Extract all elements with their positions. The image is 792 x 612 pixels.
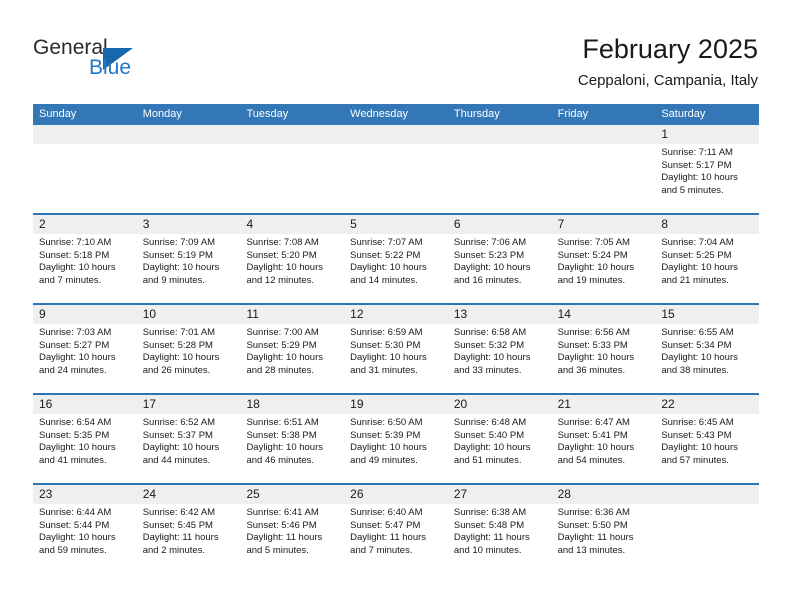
day-cell[interactable]: 10 Sunrise: 7:01 AM Sunset: 5:28 PM Dayl… bbox=[137, 305, 241, 393]
sunrise-text: Sunrise: 7:09 AM bbox=[143, 237, 235, 250]
day-number: 14 bbox=[558, 307, 571, 321]
day-number: 6 bbox=[454, 217, 461, 231]
day-number: 27 bbox=[454, 487, 467, 501]
sunrise-text: Sunrise: 6:45 AM bbox=[661, 417, 753, 430]
daylight-text-line2: and 16 minutes. bbox=[454, 275, 546, 288]
day-info: Sunrise: 6:41 AM Sunset: 5:46 PM Dayligh… bbox=[240, 504, 344, 557]
day-cell[interactable]: 19 Sunrise: 6:50 AM Sunset: 5:39 PM Dayl… bbox=[344, 395, 448, 483]
day-number-band: 28 bbox=[552, 485, 656, 504]
daylight-text-line2: and 14 minutes. bbox=[350, 275, 442, 288]
sunset-text: Sunset: 5:22 PM bbox=[350, 250, 442, 263]
day-number-band bbox=[137, 125, 241, 144]
day-cell[interactable]: 12 Sunrise: 6:59 AM Sunset: 5:30 PM Dayl… bbox=[344, 305, 448, 393]
daylight-text-line1: Daylight: 10 hours bbox=[143, 262, 235, 275]
day-info: Sunrise: 6:42 AM Sunset: 5:45 PM Dayligh… bbox=[137, 504, 241, 557]
sunrise-text: Sunrise: 7:00 AM bbox=[246, 327, 338, 340]
week-row: 16 Sunrise: 6:54 AM Sunset: 5:35 PM Dayl… bbox=[33, 395, 759, 485]
sunrise-text: Sunrise: 6:51 AM bbox=[246, 417, 338, 430]
sunrise-text: Sunrise: 7:11 AM bbox=[661, 147, 753, 160]
daylight-text-line1: Daylight: 11 hours bbox=[246, 532, 338, 545]
daylight-text-line2: and 44 minutes. bbox=[143, 455, 235, 468]
weekday-header-tuesday: Tuesday bbox=[240, 104, 344, 125]
sunrise-text: Sunrise: 6:42 AM bbox=[143, 507, 235, 520]
day-number-band: 17 bbox=[137, 395, 241, 414]
sunset-text: Sunset: 5:45 PM bbox=[143, 520, 235, 533]
day-cell[interactable]: 22 Sunrise: 6:45 AM Sunset: 5:43 PM Dayl… bbox=[655, 395, 759, 483]
sunset-text: Sunset: 5:19 PM bbox=[143, 250, 235, 263]
day-info: Sunrise: 7:03 AM Sunset: 5:27 PM Dayligh… bbox=[33, 324, 137, 377]
day-cell[interactable] bbox=[552, 125, 656, 213]
daylight-text-line1: Daylight: 10 hours bbox=[558, 352, 650, 365]
daylight-text-line1: Daylight: 10 hours bbox=[39, 352, 131, 365]
day-info: Sunrise: 6:48 AM Sunset: 5:40 PM Dayligh… bbox=[448, 414, 552, 467]
day-number: 11 bbox=[246, 307, 258, 321]
day-number: 3 bbox=[143, 217, 150, 231]
daylight-text-line2: and 19 minutes. bbox=[558, 275, 650, 288]
day-number-band bbox=[240, 125, 344, 144]
day-number-band: 24 bbox=[137, 485, 241, 504]
day-cell[interactable]: 9 Sunrise: 7:03 AM Sunset: 5:27 PM Dayli… bbox=[33, 305, 137, 393]
day-info bbox=[655, 504, 759, 507]
sunrise-text: Sunrise: 6:54 AM bbox=[39, 417, 131, 430]
day-number: 15 bbox=[661, 307, 674, 321]
day-info: Sunrise: 6:36 AM Sunset: 5:50 PM Dayligh… bbox=[552, 504, 656, 557]
day-info: Sunrise: 7:06 AM Sunset: 5:23 PM Dayligh… bbox=[448, 234, 552, 287]
daylight-text-line2: and 38 minutes. bbox=[661, 365, 753, 378]
day-number-band: 25 bbox=[240, 485, 344, 504]
day-info: Sunrise: 6:55 AM Sunset: 5:34 PM Dayligh… bbox=[655, 324, 759, 377]
daylight-text-line2: and 59 minutes. bbox=[39, 545, 131, 558]
day-number-band: 2 bbox=[33, 215, 137, 234]
day-cell[interactable] bbox=[344, 125, 448, 213]
daylight-text-line1: Daylight: 10 hours bbox=[246, 442, 338, 455]
day-cell[interactable]: 7 Sunrise: 7:05 AM Sunset: 5:24 PM Dayli… bbox=[552, 215, 656, 303]
daylight-text-line1: Daylight: 10 hours bbox=[143, 352, 235, 365]
day-info: Sunrise: 6:56 AM Sunset: 5:33 PM Dayligh… bbox=[552, 324, 656, 377]
daylight-text-line1: Daylight: 10 hours bbox=[661, 442, 753, 455]
logo-text-blue: Blue bbox=[89, 56, 131, 80]
day-number-band: 12 bbox=[344, 305, 448, 324]
sunrise-text: Sunrise: 7:04 AM bbox=[661, 237, 753, 250]
daylight-text-line1: Daylight: 10 hours bbox=[39, 442, 131, 455]
sunrise-text: Sunrise: 6:56 AM bbox=[558, 327, 650, 340]
daylight-text-line1: Daylight: 10 hours bbox=[558, 442, 650, 455]
sunrise-text: Sunrise: 6:55 AM bbox=[661, 327, 753, 340]
day-number: 9 bbox=[39, 307, 46, 321]
calendar-page: General Blue February 2025 Ceppaloni, Ca… bbox=[0, 0, 792, 612]
day-info: Sunrise: 7:09 AM Sunset: 5:19 PM Dayligh… bbox=[137, 234, 241, 287]
weekday-header-sunday: Sunday bbox=[33, 104, 137, 125]
day-number: 13 bbox=[454, 307, 467, 321]
day-info: Sunrise: 6:40 AM Sunset: 5:47 PM Dayligh… bbox=[344, 504, 448, 557]
day-info: Sunrise: 7:07 AM Sunset: 5:22 PM Dayligh… bbox=[344, 234, 448, 287]
day-number: 5 bbox=[350, 217, 357, 231]
day-number-band bbox=[33, 125, 137, 144]
day-cell[interactable] bbox=[240, 125, 344, 213]
calendar-grid: Sunday Monday Tuesday Wednesday Thursday… bbox=[33, 104, 759, 575]
day-info bbox=[552, 144, 656, 147]
sunset-text: Sunset: 5:25 PM bbox=[661, 250, 753, 263]
sunrise-text: Sunrise: 6:50 AM bbox=[350, 417, 442, 430]
sunset-text: Sunset: 5:37 PM bbox=[143, 430, 235, 443]
day-number: 10 bbox=[143, 307, 156, 321]
daylight-text-line2: and 31 minutes. bbox=[350, 365, 442, 378]
day-number-band: 19 bbox=[344, 395, 448, 414]
day-number: 4 bbox=[246, 217, 253, 231]
sunrise-text: Sunrise: 6:52 AM bbox=[143, 417, 235, 430]
sunset-text: Sunset: 5:18 PM bbox=[39, 250, 131, 263]
title-block: February 2025 Ceppaloni, Campania, Italy bbox=[578, 32, 758, 92]
daylight-text-line2: and 51 minutes. bbox=[454, 455, 546, 468]
day-number: 7 bbox=[558, 217, 565, 231]
daylight-text-line2: and 41 minutes. bbox=[39, 455, 131, 468]
daylight-text-line2: and 21 minutes. bbox=[661, 275, 753, 288]
daylight-text-line2: and 24 minutes. bbox=[39, 365, 131, 378]
day-number-band: 6 bbox=[448, 215, 552, 234]
sunset-text: Sunset: 5:17 PM bbox=[661, 160, 753, 173]
sunrise-text: Sunrise: 6:36 AM bbox=[558, 507, 650, 520]
daylight-text-line2: and 12 minutes. bbox=[246, 275, 338, 288]
sunrise-text: Sunrise: 6:40 AM bbox=[350, 507, 442, 520]
daylight-text-line2: and 9 minutes. bbox=[143, 275, 235, 288]
day-info: Sunrise: 6:54 AM Sunset: 5:35 PM Dayligh… bbox=[33, 414, 137, 467]
day-number-band bbox=[655, 485, 759, 504]
weekday-header-monday: Monday bbox=[137, 104, 241, 125]
daylight-text-line2: and 28 minutes. bbox=[246, 365, 338, 378]
sunrise-text: Sunrise: 6:41 AM bbox=[246, 507, 338, 520]
day-number: 24 bbox=[143, 487, 156, 501]
sunrise-text: Sunrise: 7:05 AM bbox=[558, 237, 650, 250]
day-number: 26 bbox=[350, 487, 363, 501]
day-number-band: 14 bbox=[552, 305, 656, 324]
day-number-band: 26 bbox=[344, 485, 448, 504]
page-subtitle: Ceppaloni, Campania, Italy bbox=[578, 70, 758, 92]
day-cell[interactable]: 26 Sunrise: 6:40 AM Sunset: 5:47 PM Dayl… bbox=[344, 485, 448, 575]
day-number-band: 3 bbox=[137, 215, 241, 234]
day-number-band bbox=[448, 125, 552, 144]
day-number-band: 15 bbox=[655, 305, 759, 324]
daylight-text-line1: Daylight: 10 hours bbox=[350, 262, 442, 275]
sunset-text: Sunset: 5:46 PM bbox=[246, 520, 338, 533]
sunset-text: Sunset: 5:33 PM bbox=[558, 340, 650, 353]
sunset-text: Sunset: 5:38 PM bbox=[246, 430, 338, 443]
page-title: February 2025 bbox=[578, 32, 758, 66]
day-info: Sunrise: 7:05 AM Sunset: 5:24 PM Dayligh… bbox=[552, 234, 656, 287]
week-row: 2 Sunrise: 7:10 AM Sunset: 5:18 PM Dayli… bbox=[33, 215, 759, 305]
week-row: 1 Sunrise: 7:11 AM Sunset: 5:17 PM Dayli… bbox=[33, 125, 759, 215]
day-cell[interactable]: 17 Sunrise: 6:52 AM Sunset: 5:37 PM Dayl… bbox=[137, 395, 241, 483]
sunset-text: Sunset: 5:35 PM bbox=[39, 430, 131, 443]
day-number: 8 bbox=[661, 217, 668, 231]
sunset-text: Sunset: 5:29 PM bbox=[246, 340, 338, 353]
day-number-band bbox=[552, 125, 656, 144]
day-number-band: 20 bbox=[448, 395, 552, 414]
sunset-text: Sunset: 5:44 PM bbox=[39, 520, 131, 533]
sunrise-text: Sunrise: 6:58 AM bbox=[454, 327, 546, 340]
day-info: Sunrise: 7:00 AM Sunset: 5:29 PM Dayligh… bbox=[240, 324, 344, 377]
day-info bbox=[448, 144, 552, 147]
day-info bbox=[33, 144, 137, 147]
day-cell[interactable]: 11 Sunrise: 7:00 AM Sunset: 5:29 PM Dayl… bbox=[240, 305, 344, 393]
day-number: 22 bbox=[661, 397, 674, 411]
daylight-text-line1: Daylight: 10 hours bbox=[143, 442, 235, 455]
page-header: General Blue February 2025 Ceppaloni, Ca… bbox=[0, 0, 792, 100]
sunset-text: Sunset: 5:34 PM bbox=[661, 340, 753, 353]
daylight-text-line1: Daylight: 10 hours bbox=[558, 262, 650, 275]
day-number-band: 18 bbox=[240, 395, 344, 414]
day-number: 25 bbox=[246, 487, 259, 501]
day-cell[interactable]: 2 Sunrise: 7:10 AM Sunset: 5:18 PM Dayli… bbox=[33, 215, 137, 303]
day-info: Sunrise: 6:47 AM Sunset: 5:41 PM Dayligh… bbox=[552, 414, 656, 467]
daylight-text-line1: Daylight: 11 hours bbox=[454, 532, 546, 545]
sunset-text: Sunset: 5:24 PM bbox=[558, 250, 650, 263]
sunset-text: Sunset: 5:40 PM bbox=[454, 430, 546, 443]
day-number-band: 22 bbox=[655, 395, 759, 414]
day-number-band: 7 bbox=[552, 215, 656, 234]
day-number: 17 bbox=[143, 397, 156, 411]
week-row: 23 Sunrise: 6:44 AM Sunset: 5:44 PM Dayl… bbox=[33, 485, 759, 575]
sunset-text: Sunset: 5:20 PM bbox=[246, 250, 338, 263]
day-cell[interactable] bbox=[137, 125, 241, 213]
daylight-text-line1: Daylight: 10 hours bbox=[661, 172, 753, 185]
day-number: 19 bbox=[350, 397, 363, 411]
daylight-text-line1: Daylight: 10 hours bbox=[454, 262, 546, 275]
day-cell[interactable]: 21 Sunrise: 6:47 AM Sunset: 5:41 PM Dayl… bbox=[552, 395, 656, 483]
day-number-band bbox=[344, 125, 448, 144]
daylight-text-line2: and 36 minutes. bbox=[558, 365, 650, 378]
day-cell[interactable]: 6 Sunrise: 7:06 AM Sunset: 5:23 PM Dayli… bbox=[448, 215, 552, 303]
sunrise-text: Sunrise: 7:10 AM bbox=[39, 237, 131, 250]
weekday-header-friday: Friday bbox=[552, 104, 656, 125]
day-info: Sunrise: 7:11 AM Sunset: 5:17 PM Dayligh… bbox=[655, 144, 759, 197]
day-number-band: 1 bbox=[655, 125, 759, 144]
day-cell[interactable]: 25 Sunrise: 6:41 AM Sunset: 5:46 PM Dayl… bbox=[240, 485, 344, 575]
day-cell[interactable]: 13 Sunrise: 6:58 AM Sunset: 5:32 PM Dayl… bbox=[448, 305, 552, 393]
daylight-text-line1: Daylight: 10 hours bbox=[39, 262, 131, 275]
day-number: 18 bbox=[246, 397, 259, 411]
day-info: Sunrise: 6:38 AM Sunset: 5:48 PM Dayligh… bbox=[448, 504, 552, 557]
daylight-text-line1: Daylight: 10 hours bbox=[661, 262, 753, 275]
day-info: Sunrise: 6:45 AM Sunset: 5:43 PM Dayligh… bbox=[655, 414, 759, 467]
day-cell[interactable]: 27 Sunrise: 6:38 AM Sunset: 5:48 PM Dayl… bbox=[448, 485, 552, 575]
sunset-text: Sunset: 5:32 PM bbox=[454, 340, 546, 353]
day-number: 1 bbox=[661, 127, 668, 141]
sunrise-text: Sunrise: 7:01 AM bbox=[143, 327, 235, 340]
day-info: Sunrise: 7:10 AM Sunset: 5:18 PM Dayligh… bbox=[33, 234, 137, 287]
day-info: Sunrise: 7:04 AM Sunset: 5:25 PM Dayligh… bbox=[655, 234, 759, 287]
daylight-text-line1: Daylight: 11 hours bbox=[350, 532, 442, 545]
day-number-band: 4 bbox=[240, 215, 344, 234]
weekday-header-wednesday: Wednesday bbox=[344, 104, 448, 125]
day-cell[interactable]: 18 Sunrise: 6:51 AM Sunset: 5:38 PM Dayl… bbox=[240, 395, 344, 483]
weekday-header-thursday: Thursday bbox=[448, 104, 552, 125]
sunrise-text: Sunrise: 6:48 AM bbox=[454, 417, 546, 430]
day-cell[interactable]: 23 Sunrise: 6:44 AM Sunset: 5:44 PM Dayl… bbox=[33, 485, 137, 575]
sunrise-text: Sunrise: 6:47 AM bbox=[558, 417, 650, 430]
day-number: 16 bbox=[39, 397, 52, 411]
day-cell[interactable] bbox=[33, 125, 137, 213]
daylight-text-line1: Daylight: 10 hours bbox=[39, 532, 131, 545]
daylight-text-line1: Daylight: 10 hours bbox=[454, 352, 546, 365]
daylight-text-line2: and 5 minutes. bbox=[246, 545, 338, 558]
day-number-band: 23 bbox=[33, 485, 137, 504]
daylight-text-line2: and 2 minutes. bbox=[143, 545, 235, 558]
day-number-band: 27 bbox=[448, 485, 552, 504]
day-cell[interactable]: 28 Sunrise: 6:36 AM Sunset: 5:50 PM Dayl… bbox=[552, 485, 656, 575]
daylight-text-line2: and 57 minutes. bbox=[661, 455, 753, 468]
day-cell[interactable]: 14 Sunrise: 6:56 AM Sunset: 5:33 PM Dayl… bbox=[552, 305, 656, 393]
day-number-band: 11 bbox=[240, 305, 344, 324]
daylight-text-line1: Daylight: 11 hours bbox=[558, 532, 650, 545]
daylight-text-line2: and 5 minutes. bbox=[661, 185, 753, 198]
day-cell[interactable] bbox=[448, 125, 552, 213]
day-cell[interactable]: 4 Sunrise: 7:08 AM Sunset: 5:20 PM Dayli… bbox=[240, 215, 344, 303]
day-info: Sunrise: 6:51 AM Sunset: 5:38 PM Dayligh… bbox=[240, 414, 344, 467]
sunset-text: Sunset: 5:50 PM bbox=[558, 520, 650, 533]
day-info: Sunrise: 6:50 AM Sunset: 5:39 PM Dayligh… bbox=[344, 414, 448, 467]
sunset-text: Sunset: 5:48 PM bbox=[454, 520, 546, 533]
daylight-text-line1: Daylight: 10 hours bbox=[246, 352, 338, 365]
day-cell[interactable]: 24 Sunrise: 6:42 AM Sunset: 5:45 PM Dayl… bbox=[137, 485, 241, 575]
weekday-header-row: Sunday Monday Tuesday Wednesday Thursday… bbox=[33, 104, 759, 125]
daylight-text-line2: and 7 minutes. bbox=[350, 545, 442, 558]
day-number-band: 9 bbox=[33, 305, 137, 324]
day-number-band: 10 bbox=[137, 305, 241, 324]
daylight-text-line1: Daylight: 10 hours bbox=[246, 262, 338, 275]
sunset-text: Sunset: 5:39 PM bbox=[350, 430, 442, 443]
day-number-band: 21 bbox=[552, 395, 656, 414]
sunrise-text: Sunrise: 7:06 AM bbox=[454, 237, 546, 250]
sunrise-text: Sunrise: 7:03 AM bbox=[39, 327, 131, 340]
daylight-text-line1: Daylight: 10 hours bbox=[454, 442, 546, 455]
day-cell[interactable]: 16 Sunrise: 6:54 AM Sunset: 5:35 PM Dayl… bbox=[33, 395, 137, 483]
day-number-band: 5 bbox=[344, 215, 448, 234]
week-row: 9 Sunrise: 7:03 AM Sunset: 5:27 PM Dayli… bbox=[33, 305, 759, 395]
day-info: Sunrise: 7:01 AM Sunset: 5:28 PM Dayligh… bbox=[137, 324, 241, 377]
day-info: Sunrise: 6:44 AM Sunset: 5:44 PM Dayligh… bbox=[33, 504, 137, 557]
daylight-text-line1: Daylight: 11 hours bbox=[143, 532, 235, 545]
day-info bbox=[344, 144, 448, 147]
daylight-text-line2: and 7 minutes. bbox=[39, 275, 131, 288]
weekday-header-saturday: Saturday bbox=[655, 104, 759, 125]
day-number-band: 16 bbox=[33, 395, 137, 414]
sunset-text: Sunset: 5:41 PM bbox=[558, 430, 650, 443]
day-info: Sunrise: 6:58 AM Sunset: 5:32 PM Dayligh… bbox=[448, 324, 552, 377]
day-cell[interactable]: 8 Sunrise: 7:04 AM Sunset: 5:25 PM Dayli… bbox=[655, 215, 759, 303]
day-cell[interactable]: 5 Sunrise: 7:07 AM Sunset: 5:22 PM Dayli… bbox=[344, 215, 448, 303]
daylight-text-line1: Daylight: 10 hours bbox=[350, 442, 442, 455]
sunset-text: Sunset: 5:27 PM bbox=[39, 340, 131, 353]
sunset-text: Sunset: 5:30 PM bbox=[350, 340, 442, 353]
sunset-text: Sunset: 5:47 PM bbox=[350, 520, 442, 533]
day-number: 20 bbox=[454, 397, 467, 411]
sunrise-text: Sunrise: 7:07 AM bbox=[350, 237, 442, 250]
day-number: 2 bbox=[39, 217, 46, 231]
day-info: Sunrise: 7:08 AM Sunset: 5:20 PM Dayligh… bbox=[240, 234, 344, 287]
sunset-text: Sunset: 5:28 PM bbox=[143, 340, 235, 353]
day-info: Sunrise: 6:59 AM Sunset: 5:30 PM Dayligh… bbox=[344, 324, 448, 377]
sunset-text: Sunset: 5:43 PM bbox=[661, 430, 753, 443]
general-blue-logo[interactable]: General Blue bbox=[33, 36, 233, 92]
day-info: Sunrise: 6:52 AM Sunset: 5:37 PM Dayligh… bbox=[137, 414, 241, 467]
daylight-text-line2: and 46 minutes. bbox=[246, 455, 338, 468]
sunrise-text: Sunrise: 6:38 AM bbox=[454, 507, 546, 520]
day-cell[interactable]: 20 Sunrise: 6:48 AM Sunset: 5:40 PM Dayl… bbox=[448, 395, 552, 483]
sunrise-text: Sunrise: 7:08 AM bbox=[246, 237, 338, 250]
daylight-text-line2: and 26 minutes. bbox=[143, 365, 235, 378]
day-cell[interactable]: 15 Sunrise: 6:55 AM Sunset: 5:34 PM Dayl… bbox=[655, 305, 759, 393]
day-number-band: 8 bbox=[655, 215, 759, 234]
day-cell[interactable]: 3 Sunrise: 7:09 AM Sunset: 5:19 PM Dayli… bbox=[137, 215, 241, 303]
day-number: 21 bbox=[558, 397, 571, 411]
sunrise-text: Sunrise: 6:59 AM bbox=[350, 327, 442, 340]
day-cell[interactable] bbox=[655, 485, 759, 575]
daylight-text-line1: Daylight: 10 hours bbox=[661, 352, 753, 365]
day-number-band: 13 bbox=[448, 305, 552, 324]
day-number: 23 bbox=[39, 487, 52, 501]
daylight-text-line2: and 54 minutes. bbox=[558, 455, 650, 468]
daylight-text-line2: and 13 minutes. bbox=[558, 545, 650, 558]
day-cell[interactable]: 1 Sunrise: 7:11 AM Sunset: 5:17 PM Dayli… bbox=[655, 125, 759, 213]
sunset-text: Sunset: 5:23 PM bbox=[454, 250, 546, 263]
daylight-text-line2: and 33 minutes. bbox=[454, 365, 546, 378]
day-number: 28 bbox=[558, 487, 571, 501]
daylight-text-line2: and 10 minutes. bbox=[454, 545, 546, 558]
daylight-text-line1: Daylight: 10 hours bbox=[350, 352, 442, 365]
daylight-text-line2: and 49 minutes. bbox=[350, 455, 442, 468]
day-info bbox=[240, 144, 344, 147]
day-number: 12 bbox=[350, 307, 363, 321]
day-info bbox=[137, 144, 241, 147]
sunrise-text: Sunrise: 6:44 AM bbox=[39, 507, 131, 520]
